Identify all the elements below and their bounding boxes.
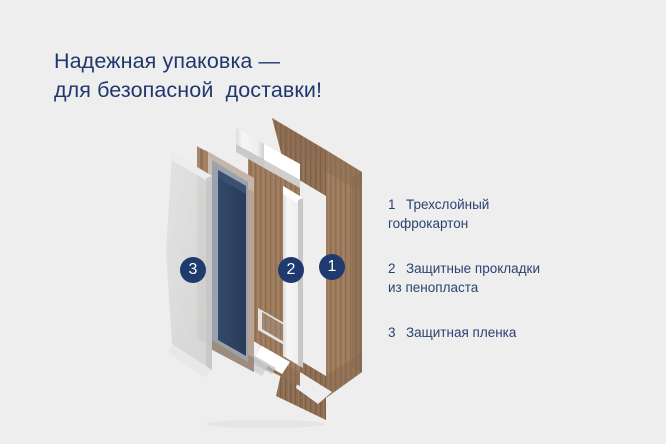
legend-label-2-line1: Защитные прокладки: [406, 261, 540, 276]
badge-layer-2[interactable]: 2: [278, 257, 304, 283]
legend-label-1-line1: Трехслойный: [406, 197, 489, 212]
legend-label-3: Защитная пленка: [406, 325, 516, 340]
poster-canvas: Надежная упаковка — для безопасной доста…: [0, 0, 666, 444]
legend-label-2-line2: из пенопласта: [388, 278, 648, 297]
legend-label-2: Защитные прокладки из пенопласта: [388, 261, 648, 297]
legend-number-3: 3: [388, 323, 402, 342]
legend-list: 1 Трехслойный гофрокартон 2 Защитные про…: [388, 195, 648, 368]
badge-layer-3[interactable]: 3: [180, 257, 206, 283]
legend-label-3-line1: Защитная пленка: [406, 325, 516, 340]
legend-label-1: Трехслойный гофрокартон: [388, 197, 648, 233]
legend-item-2: 2 Защитные прокладки из пенопласта: [388, 259, 648, 297]
legend-label-1-line2: гофрокартон: [388, 214, 648, 233]
legend-item-3: 3 Защитная пленка: [388, 323, 648, 342]
legend-number-2: 2: [388, 259, 402, 278]
layer-inner-product: [205, 150, 254, 372]
badge-layer-1[interactable]: 1: [319, 254, 345, 280]
legend-number-1: 1: [388, 195, 402, 214]
legend-item-1: 1 Трехслойный гофрокартон: [388, 195, 648, 233]
